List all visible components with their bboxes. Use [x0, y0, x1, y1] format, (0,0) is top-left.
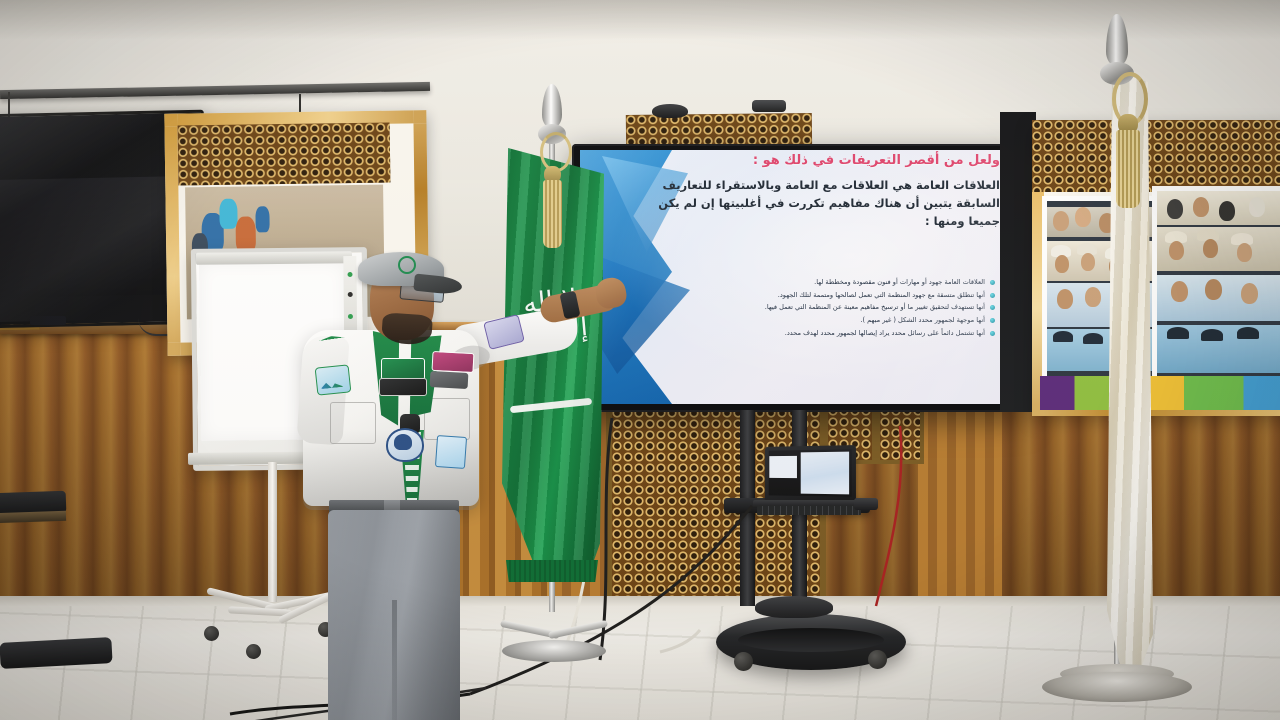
mashrabiya-panel-top-right — [1032, 120, 1280, 192]
flipchart-clamp[interactable] — [196, 251, 352, 265]
slide-body-text: العلاقات العامة هي العلاقات مع العامة وب… — [634, 177, 1000, 230]
saudi-flag-stand-base — [502, 640, 606, 662]
cap-logo-icon — [398, 256, 416, 274]
slide-bullet: أنها موجهة لجمهور محدد الشكل ( غير مبهم … — [666, 314, 996, 327]
secondary-wall-tv-reflection — [0, 176, 193, 298]
shirt-pocket-left — [330, 402, 376, 444]
saudi-flag-fringe — [506, 560, 598, 582]
hdmi-cable — [470, 506, 752, 694]
ceiling-light-fixture — [752, 100, 786, 112]
trousers-leg-seam — [392, 600, 397, 720]
pink-event-badge — [432, 351, 475, 373]
ceiling-shadow — [0, 0, 1280, 40]
slide-title: ولعل من أقصر التعريفات في ذلك هو : — [700, 153, 1000, 168]
shoulder-patch-mountain-emblem — [315, 364, 352, 395]
scout-group-photo-right — [1152, 186, 1280, 388]
ceiling-speaker-icon — [652, 104, 688, 118]
flag-gold-tassel — [543, 180, 562, 248]
wolf-head-icon — [394, 434, 412, 450]
slide-bullet: العلاقات العامة جهود أو مهارات أو فنون م… — [666, 276, 996, 289]
right-wall-dark-edge — [1000, 112, 1036, 412]
cable-loop — [660, 630, 700, 652]
slide-bullet: أنها تستهدف لتحقيق تغيير ما أو ترسيخ مفا… — [666, 301, 996, 314]
cream-flag-stand-base — [1042, 672, 1192, 702]
secondary-wall-tv-mount — [30, 316, 66, 325]
black-name-tape — [379, 378, 427, 396]
red-cable — [876, 426, 901, 606]
gold-frame-lattice-inset — [178, 123, 391, 186]
green-name-tape — [381, 358, 425, 380]
grey-badge — [430, 371, 469, 389]
blue-square-badge — [435, 435, 467, 469]
slide-bullet: أنها تنطلق متسقة مع جهود المنظمة التي تع… — [666, 289, 996, 302]
colored-banner-strip — [1040, 376, 1280, 410]
presentation-room-photo: ولعل من أقصر التعريفات في ذلك هو : العلا… — [0, 0, 1280, 720]
cream-flag-gold-tassel — [1116, 130, 1140, 208]
